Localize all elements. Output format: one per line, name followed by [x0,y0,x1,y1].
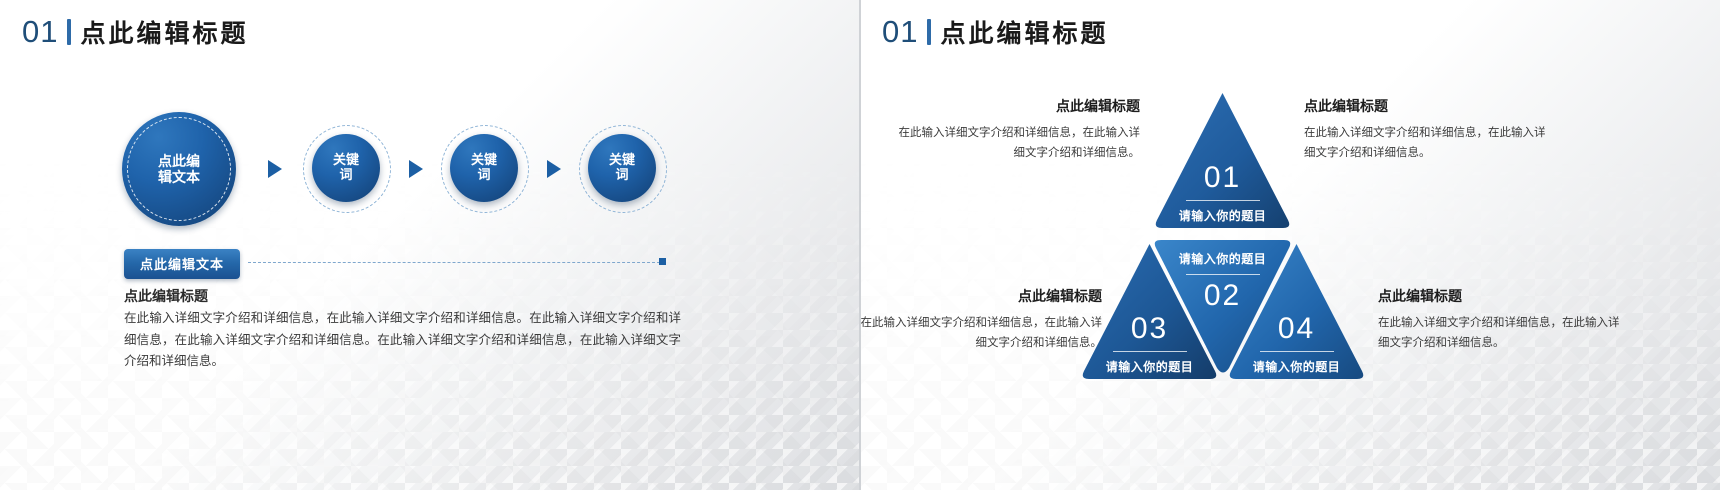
body-paragraph: 在此输入详细文字介绍和详细信息，在此输入详细文字介绍和详细信息。在此输入详细文字… [124,308,681,373]
arrow-right-icon-2 [409,160,423,178]
badge-dotted-rule [248,262,660,263]
keyword-circle-1[interactable]: 关键 词 [312,134,380,202]
main-circle[interactable]: 点此编 辑文本 [122,112,236,226]
keyword-circle-2[interactable]: 关键 词 [450,134,518,202]
block-top-left-title: 点此编辑标题 [890,96,1140,116]
title-divider-bar [67,19,71,45]
keyword-circle-2-line2: 词 [471,168,497,183]
main-circle-line2: 辑文本 [158,169,200,185]
block-bottom-right-title: 点此编辑标题 [1378,286,1630,306]
block-bottom-right-body: 在此输入详细文字介绍和详细信息，在此输入详细文字介绍和详细信息。 [1378,313,1630,353]
page-title-text-right: 点此编辑标题 [940,14,1108,50]
keyword-circle-3[interactable]: 关键 词 [588,134,656,202]
block-top-right-body: 在此输入详细文字介绍和详细信息，在此输入详细文字介绍和详细信息。 [1304,123,1554,163]
block-bottom-right: 点此编辑标题 在此输入详细文字介绍和详细信息，在此输入详细文字介绍和详细信息。 [1378,286,1630,353]
slide-right: 01 点此编辑标题 01 请输入你的题目 [860,0,1720,490]
main-circle-line1: 点此编 [158,153,200,169]
block-bottom-left: 点此编辑标题 在此输入详细文字介绍和详细信息，在此输入详细文字介绍和详细信息。 [860,286,1102,353]
keyword-circle-1-line2: 词 [333,168,359,183]
block-top-left: 点此编辑标题 在此输入详细文字介绍和详细信息，在此输入详细文字介绍和详细信息。 [890,96,1140,163]
section-number-right: 01 [882,14,918,50]
section-badge[interactable]: 点此编辑文本 [124,249,240,279]
keyword-circle-3-line1: 关键 [609,153,635,168]
block-bottom-left-body: 在此输入详细文字介绍和详细信息，在此输入详细文字介绍和详细信息。 [860,313,1102,353]
slide-deck: 01 点此编辑标题 点此编 辑文本 关键 词 关键 词 [0,0,1720,490]
block-top-left-body: 在此输入详细文字介绍和详细信息，在此输入详细文字介绍和详细信息。 [890,123,1140,163]
block-bottom-left-title: 点此编辑标题 [860,286,1102,306]
arrow-right-icon-3 [547,160,561,178]
title-divider-bar-right [927,19,931,45]
page-title-right: 01 点此编辑标题 [882,14,1109,50]
slide-divider [859,0,861,490]
rule-end-square-icon [659,258,666,265]
block-top-right: 点此编辑标题 在此输入详细文字介绍和详细信息，在此输入详细文字介绍和详细信息。 [1304,96,1554,163]
arrow-right-icon-1 [268,160,282,178]
page-title-left: 01 点此编辑标题 [22,14,249,50]
keyword-circle-1-line1: 关键 [333,153,359,168]
triangle-04[interactable]: 04 请输入你的题目 [1224,238,1369,383]
slide-left: 01 点此编辑标题 点此编 辑文本 关键 词 关键 词 [0,0,860,490]
keyword-circle-3-line2: 词 [609,168,635,183]
body-sub-title: 点此编辑标题 [124,286,208,306]
block-top-right-title: 点此编辑标题 [1304,96,1554,116]
page-title-text: 点此编辑标题 [80,14,248,50]
triangle-01[interactable]: 01 请输入你的题目 [1150,87,1295,232]
keyword-circle-2-line1: 关键 [471,153,497,168]
section-number: 01 [22,14,58,50]
